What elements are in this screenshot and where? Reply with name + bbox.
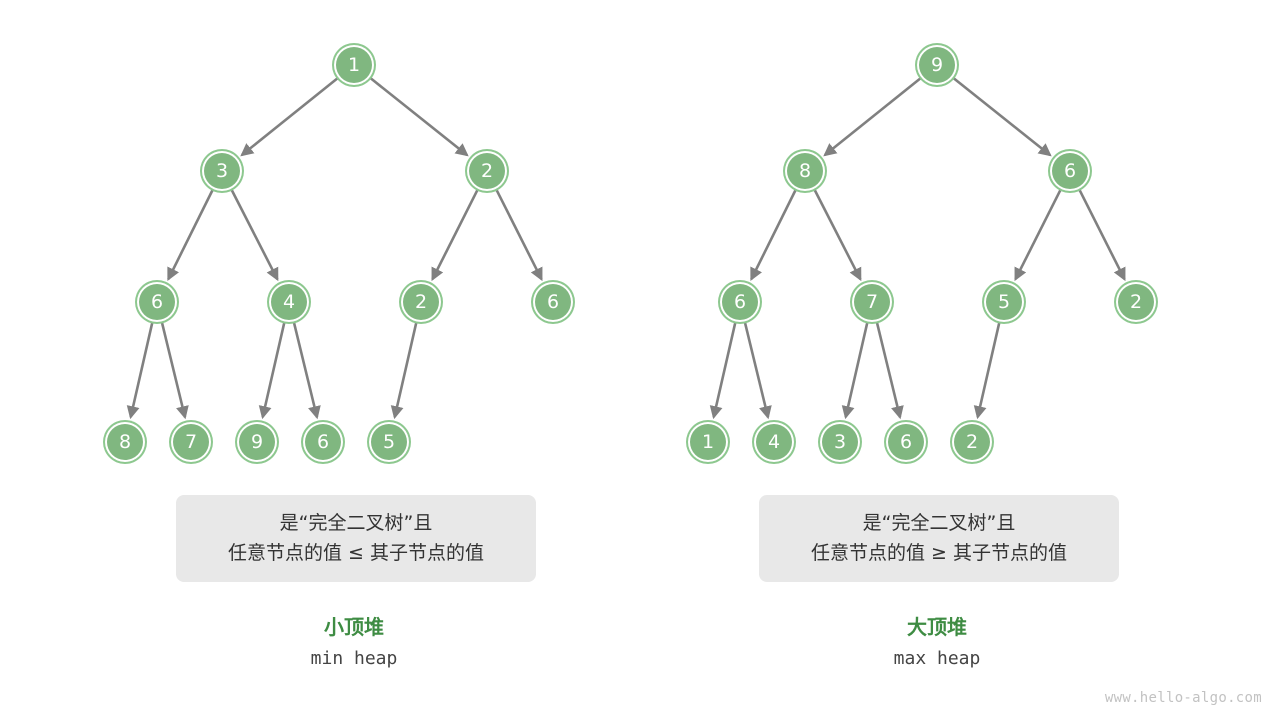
tree-node: 2 [952,422,992,462]
tree-edges-layer [0,0,1280,720]
heap-title-cn: 小顶堆 [174,615,534,639]
heap-title-en: max heap [757,648,1117,670]
tree-edge [815,190,861,279]
heap-title-block: 大顶堆max heap [757,615,1117,670]
tree-node: 3 [820,422,860,462]
tree-node: 9 [917,45,957,85]
tree-edge [978,323,1000,417]
tree-node: 6 [886,422,926,462]
heap-title-block: 小顶堆min heap [174,615,534,670]
tree-node: 1 [334,45,374,85]
tree-edge [371,78,467,155]
caption-line-1: 是“完全二叉树”且 [280,509,433,538]
heap-definition-caption: 是“完全二叉树”且任意节点的值 ≤ 其子节点的值 [176,495,536,582]
caption-line-2: 任意节点的值 ≤ 其子节点的值 [228,539,484,568]
tree-edge [294,323,317,417]
tree-edge [263,323,285,417]
heap-definition-caption: 是“完全二叉树”且任意节点的值 ≥ 其子节点的值 [759,495,1119,582]
tree-node: 8 [785,151,825,191]
heap-title-en: min heap [174,648,534,670]
tree-edge [846,323,868,417]
heap-diagram-canvas: 132642687965986675214362 是“完全二叉树”且任意节点的值… [0,0,1280,720]
tree-node: 1 [688,422,728,462]
tree-node: 4 [269,282,309,322]
tree-node: 7 [171,422,211,462]
tree-node: 5 [984,282,1024,322]
tree-edge [162,323,185,417]
tree-node: 6 [137,282,177,322]
tree-edge [751,190,795,279]
tree-node: 2 [467,151,507,191]
tree-node: 4 [754,422,794,462]
tree-node: 8 [105,422,145,462]
tree-edge [877,323,900,417]
tree-edge [242,78,337,155]
tree-edge [432,190,477,279]
watermark: www.hello-algo.com [1105,690,1262,706]
tree-node: 7 [852,282,892,322]
tree-node: 6 [533,282,573,322]
tree-node: 2 [1116,282,1156,322]
tree-node: 5 [369,422,409,462]
tree-edge [1015,190,1060,279]
tree-edge [395,323,417,417]
tree-node: 2 [401,282,441,322]
heap-title-cn: 大顶堆 [757,615,1117,639]
tree-node: 6 [303,422,343,462]
tree-edge [1080,190,1125,279]
tree-edge [131,323,153,417]
tree-node: 6 [720,282,760,322]
tree-edge [168,190,212,279]
caption-line-2: 任意节点的值 ≥ 其子节点的值 [811,539,1067,568]
caption-line-1: 是“完全二叉树”且 [863,509,1016,538]
tree-edge [745,323,768,417]
tree-node: 9 [237,422,277,462]
tree-edge [954,78,1050,155]
tree-edge [714,323,736,417]
tree-node: 6 [1050,151,1090,191]
tree-edge [497,190,542,279]
tree-edge [232,190,278,279]
tree-edge [825,78,920,155]
tree-node: 3 [202,151,242,191]
